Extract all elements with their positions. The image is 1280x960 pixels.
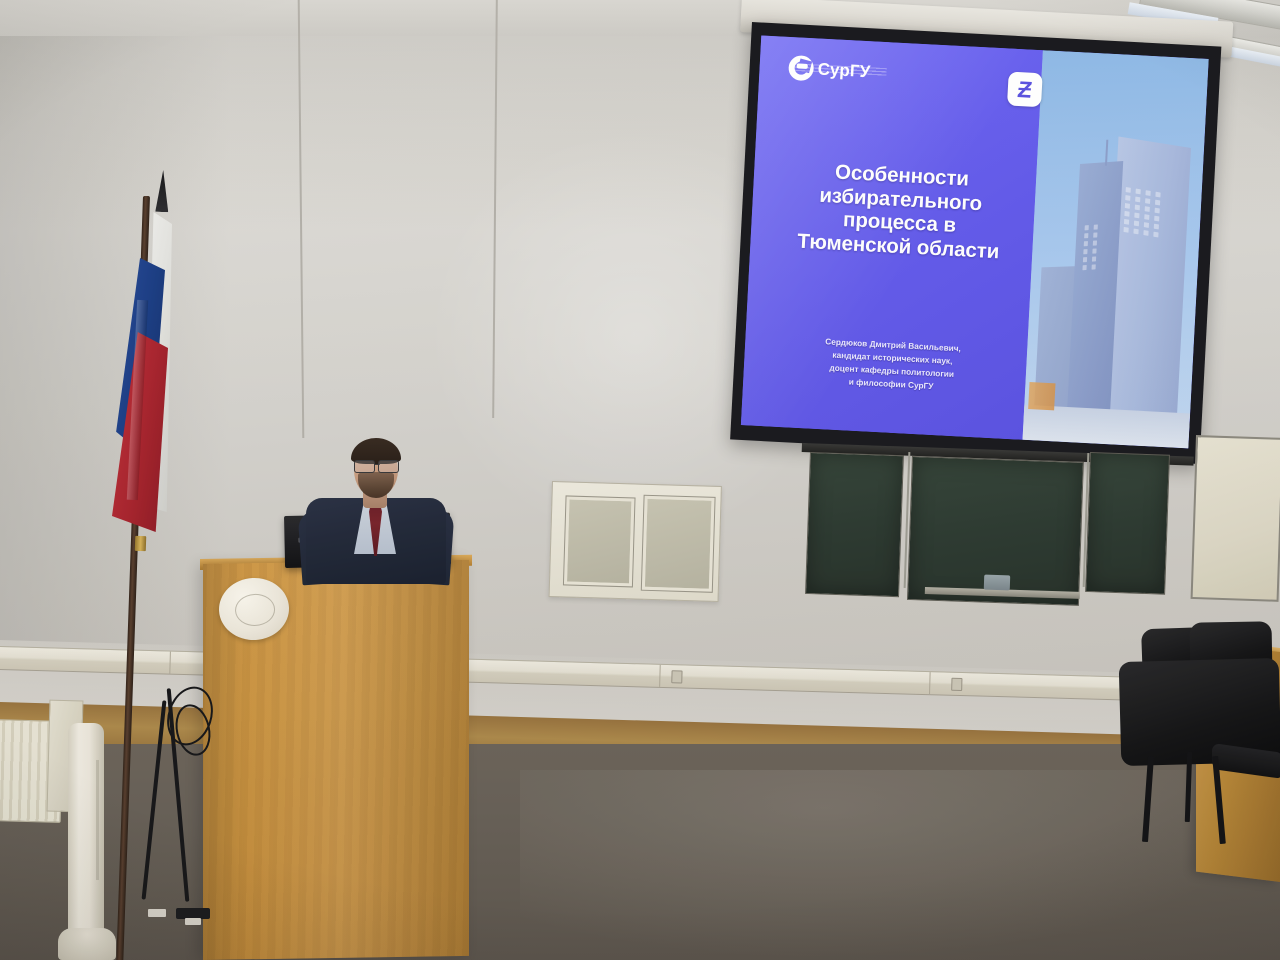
floor-plug-white-1 [148,909,166,917]
floor-column-seam [96,760,99,880]
chalkboard-panel-right [1085,452,1170,595]
slide-title: Особенности избирательного процесса в Тю… [768,157,1032,266]
whiteboard [1191,435,1280,602]
building-windows-main [1124,186,1161,236]
speaker-glasses-icon [352,460,401,471]
photo-warm-accent [1028,382,1056,411]
interior-window-pane-right [642,496,715,592]
floor-sheen [520,770,1280,960]
lecture-hall-scene: СурГУ Ƶ Особенности избирательного проце… [0,0,1280,960]
speaker-person [300,440,450,580]
slide-photo-panel [1023,50,1209,448]
flag-pole-ferrule [135,536,147,551]
z-badge-icon: Ƶ [1007,72,1043,108]
chalkboard-panel-left [805,452,904,597]
interior-window-pane-left [564,496,635,586]
wall-socket-2[interactable] [951,678,962,691]
wall-socket-1[interactable] [671,670,682,683]
projection-screen-surface: СурГУ Ƶ Особенности избирательного проце… [741,36,1209,449]
building-windows-tower [1083,224,1098,270]
floor-column-base [58,928,116,960]
presentation-slide: СурГУ Ƶ Особенности избирательного проце… [741,36,1209,449]
photo-ground [1023,405,1190,449]
interior-window [549,481,722,602]
floor-plug-white-2 [185,918,201,925]
z-badge-glyph: Ƶ [1016,78,1033,102]
board-eraser [984,575,1010,591]
projection-screen[interactable]: СурГУ Ƶ Особенности избирательного проце… [730,22,1221,464]
